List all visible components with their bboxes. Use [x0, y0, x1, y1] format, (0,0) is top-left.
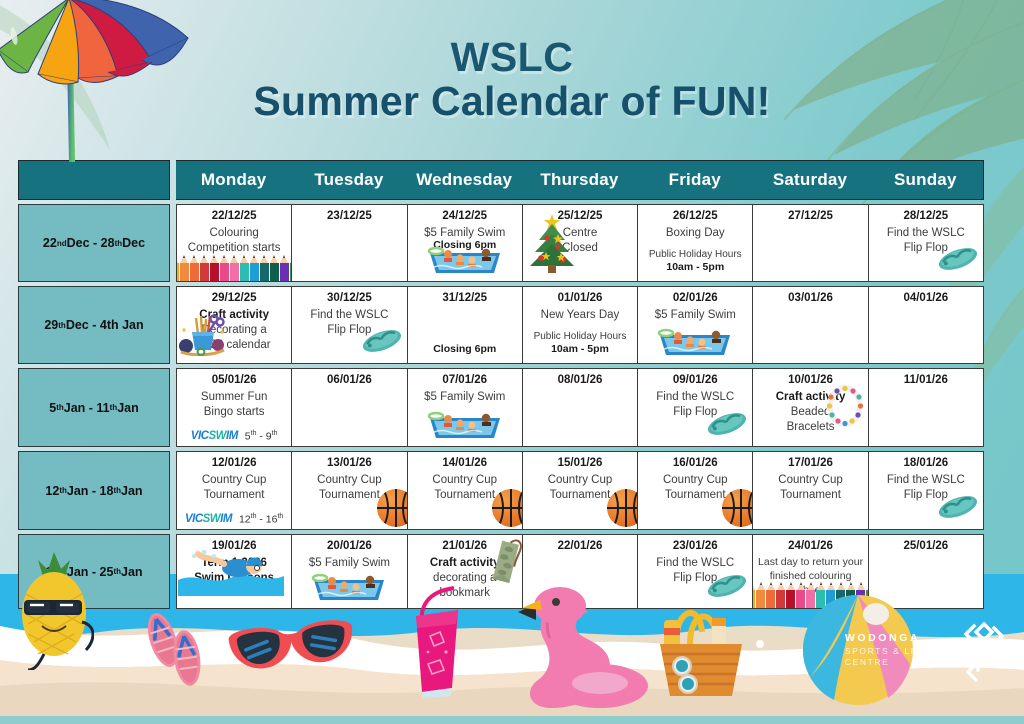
calendar-day-cell[interactable]: 04/01/26 — [869, 287, 983, 363]
day-text-line: Bracelets — [756, 420, 864, 435]
day-date: 25/12/25 — [526, 209, 634, 223]
calendar-day-cell[interactable]: 09/01/26Find the WSLCFlip Flop — [638, 369, 753, 446]
day-date: 21/01/26 — [411, 539, 519, 553]
logo-name: WODONGA — [845, 631, 952, 645]
vicswim-dates: 12th - 16th — [239, 513, 283, 526]
day-date: 24/12/25 — [411, 209, 519, 223]
calendar-day-cell[interactable]: 01/01/26New Years DayPublic Holiday Hour… — [523, 287, 638, 363]
vicswim-dates: 5th - 9th — [245, 430, 278, 443]
calendar-day-cell[interactable]: 21/01/26Craft activitydecorating abookma… — [408, 535, 523, 608]
day-body: Term 1 2026Swim Lessons return — [180, 556, 288, 601]
calendar-day-cell[interactable]: 25/01/26 — [869, 535, 983, 608]
calendar-day-cell[interactable]: 18/01/26Find the WSLCFlip Flop — [869, 452, 983, 529]
day-text-line: Tournament — [756, 488, 864, 503]
week-range-label: 29th Dec - 4th Jan — [18, 286, 170, 364]
day-date: 04/01/26 — [872, 291, 980, 305]
day-date: 01/01/26 — [526, 291, 634, 305]
day-date: 13/01/26 — [295, 456, 403, 470]
week-range-label: 5th Jan - 11th Jan — [18, 368, 170, 447]
calendar-day-cell[interactable]: 31/12/25Closing 6pm — [408, 287, 523, 363]
day-text-line: Boxing Day — [641, 226, 749, 241]
day-body: Craft activitydecorating abookmark — [411, 556, 519, 601]
day-text-line: $5 Family Swim — [295, 556, 403, 571]
day-text-line: bookmark — [411, 586, 519, 601]
day-body: Find the WSLCFlip Flop — [641, 556, 749, 586]
calendar-day-cell[interactable]: 23/01/26Find the WSLCFlip Flop — [638, 535, 753, 608]
day-text-line: Tournament — [180, 488, 288, 503]
day-text-line: sheet — [756, 584, 864, 598]
day-date: 09/01/26 — [641, 373, 749, 387]
day-body: Country CupTournament — [526, 473, 634, 503]
day-body: ColouringCompetition starts — [180, 226, 288, 256]
day-date: 29/12/25 — [180, 291, 288, 305]
day-body: $5 Family Swim — [411, 390, 519, 405]
calendar-day-cell[interactable]: 05/01/26Summer FunBingo startsVICSWIM5th… — [177, 369, 292, 446]
family-swim-pool-icon — [310, 568, 388, 607]
day-header-tuesday: Tuesday — [291, 161, 406, 199]
family-swim-pool-icon — [426, 406, 504, 445]
day-subnote-hours: 10am - 5pm — [641, 261, 749, 275]
calendar-day-cell[interactable]: 14/01/26Country CupTournament — [408, 452, 523, 529]
day-text-line: $5 Family Swim — [641, 308, 749, 323]
day-text-line: decorating a — [411, 571, 519, 586]
day-text-line: Find the WSLC — [295, 308, 403, 323]
vicswim-program-note: VICSWIM5th - 9th — [177, 430, 291, 443]
calendar-week-row: 22nd Dec - 28th Dec22/12/25ColouringComp… — [18, 204, 984, 282]
day-text-line: Tournament — [526, 488, 634, 503]
day-body: Country CupTournament — [295, 473, 403, 503]
footer-accent-strip — [0, 716, 1024, 724]
week-range-label: 12th Jan - 18th Jan — [18, 451, 170, 530]
logo-mark-icon — [962, 614, 1006, 686]
day-date: 15/01/26 — [526, 456, 634, 470]
day-date: 18/01/26 — [872, 456, 980, 470]
day-text-line: Beaded — [756, 405, 864, 420]
calendar-day-cell[interactable]: 23/12/25 — [292, 205, 407, 281]
vicswim-logo: VICSWIM — [191, 430, 238, 442]
day-body: Boxing DayPublic Holiday Hours10am - 5pm — [641, 226, 749, 275]
calendar-day-cell[interactable]: 13/01/26Country CupTournament — [292, 452, 407, 529]
day-date: 22/01/26 — [526, 539, 634, 553]
day-date: 30/12/25 — [295, 291, 403, 305]
calendar-day-cell[interactable]: 02/01/26$5 Family Swim — [638, 287, 753, 363]
calendar-week-row: 5th Jan - 11th Jan05/01/26Summer FunBing… — [18, 368, 984, 447]
calendar-day-cell[interactable]: 25/12/25CentreClosed — [523, 205, 638, 281]
day-date: 12/01/26 — [180, 456, 288, 470]
week-days-strip: 22/12/25ColouringCompetition starts23/12… — [176, 204, 984, 282]
coloured-pencils-icon — [177, 255, 291, 281]
day-text-line: Competition starts — [180, 241, 288, 256]
week-days-strip: 19/01/26Term 1 2026Swim Lessons return20… — [176, 534, 984, 609]
calendar-day-cell[interactable]: 16/01/26Country CupTournament — [638, 452, 753, 529]
calendar-day-cell[interactable]: 08/01/26 — [523, 369, 638, 446]
vicswim-program-note: VICSWIM12th - 16th — [177, 513, 291, 526]
day-text-line: Country Cup — [180, 473, 288, 488]
day-date: 14/01/26 — [411, 456, 519, 470]
day-bold-line: Craft activity — [180, 308, 288, 323]
day-text-line: Centre — [526, 226, 634, 241]
calendar-day-cell[interactable]: 29/12/25Craft activityDecorating a2026 c… — [177, 287, 292, 363]
day-text-line: Last day to return your — [756, 556, 864, 570]
calendar-day-cell[interactable]: 06/01/26 — [292, 369, 407, 446]
calendar-day-cell[interactable]: 07/01/26$5 Family Swim — [408, 369, 523, 446]
day-text-line: Summer Fun — [180, 390, 288, 405]
day-text-line: Flip Flop — [295, 323, 403, 338]
day-body: $5 Family Swim — [641, 308, 749, 323]
day-subnote-hours: 10am - 5pm — [526, 343, 634, 357]
calendar-day-cell[interactable]: 17/01/26Country CupTournament — [753, 452, 868, 529]
day-text-line: Country Cup — [526, 473, 634, 488]
day-text-line: Bingo starts — [180, 405, 288, 420]
calendar-day-cell[interactable]: 22/01/26 — [523, 535, 638, 608]
day-text-line: Country Cup — [756, 473, 864, 488]
day-text-line: Country Cup — [411, 473, 519, 488]
wslc-logo: WODONGA SPORTS & LEISURE CENTRE — [845, 614, 1006, 686]
week-days-strip: 12/01/26Country CupTournamentVICSWIM12th… — [176, 451, 984, 530]
day-body: Craft activityBeadedBracelets — [756, 390, 864, 435]
calendar-week-row: 19th Jan - 25th Jan19/01/26Term 1 2026Sw… — [18, 534, 984, 609]
calendar-day-cell[interactable]: 03/01/26 — [753, 287, 868, 363]
calendar-day-cell[interactable]: 26/12/25Boxing DayPublic Holiday Hours10… — [638, 205, 753, 281]
calendar-day-cell[interactable]: 27/12/25 — [753, 205, 868, 281]
calendar-day-cell[interactable]: 30/12/25Find the WSLCFlip Flop — [292, 287, 407, 363]
day-date: 28/12/25 — [872, 209, 980, 223]
calendar-day-cell[interactable]: 28/12/25Find the WSLCFlip Flop — [869, 205, 983, 281]
day-date: 31/12/25 — [411, 291, 519, 305]
day-date: 22/12/25 — [180, 209, 288, 223]
day-header-saturday: Saturday — [752, 161, 867, 199]
day-body: $5 Family Swim — [295, 556, 403, 571]
day-text-line: Find the WSLC — [641, 556, 749, 571]
logo-subtitle-2: CENTRE — [845, 657, 952, 668]
day-date: 08/01/26 — [526, 373, 634, 387]
day-text-line: 2026 calendar — [180, 338, 288, 353]
day-text-line: Country Cup — [295, 473, 403, 488]
day-date: 19/01/26 — [180, 539, 288, 553]
day-date: 03/01/26 — [756, 291, 864, 305]
week-range-label: 22nd Dec - 28th Dec — [18, 204, 170, 282]
day-body: Craft activityDecorating a2026 calendar — [180, 308, 288, 353]
day-date: 02/01/26 — [641, 291, 749, 305]
day-text-line: New Years Day — [526, 308, 634, 323]
day-text-line: Decorating a — [180, 323, 288, 338]
day-body: Summer FunBingo starts — [180, 390, 288, 420]
calendar-day-cell[interactable]: 15/01/26Country CupTournament — [523, 452, 638, 529]
day-bold-line: Swim Lessons return — [180, 571, 288, 601]
day-text-line: Find the WSLC — [641, 390, 749, 405]
day-text-line: $5 Family Swim — [411, 390, 519, 405]
day-closing-note: Closing 6pm — [408, 239, 522, 251]
spacer — [526, 323, 634, 330]
day-text-line: Colouring — [180, 226, 288, 241]
vicswim-logo: VICSWIM — [185, 513, 232, 525]
day-bold-line: Craft activity — [411, 556, 519, 571]
day-text-line: Find the WSLC — [872, 473, 980, 488]
day-header-sunday: Sunday — [868, 161, 983, 199]
logo-subtitle-1: SPORTS & LEISURE — [845, 646, 952, 657]
calendar-day-cell[interactable]: 24/12/25$5 Family SwimClosing 6pm — [408, 205, 523, 281]
day-header-wednesday: Wednesday — [407, 161, 522, 199]
day-text-line: Flip Flop — [872, 488, 980, 503]
day-date: 20/01/26 — [295, 539, 403, 553]
day-body: Find the WSLCFlip Flop — [872, 473, 980, 503]
day-text-line: Country Cup — [641, 473, 749, 488]
day-body: Country CupTournament — [641, 473, 749, 503]
spacer — [641, 241, 749, 248]
day-body: Country CupTournament — [180, 473, 288, 503]
beach-umbrella-icon — [0, 0, 232, 184]
day-date: 27/12/25 — [756, 209, 864, 223]
day-text-line: Flip Flop — [872, 241, 980, 256]
day-text-line: finished colouring — [756, 570, 864, 584]
day-body: Country CupTournament — [756, 473, 864, 503]
day-date: 25/01/26 — [872, 539, 980, 553]
day-date: 26/12/25 — [641, 209, 749, 223]
day-date: 07/01/26 — [411, 373, 519, 387]
day-text-line: Flip Flop — [641, 405, 749, 420]
day-date: 16/01/26 — [641, 456, 749, 470]
day-date: 06/01/26 — [295, 373, 403, 387]
summer-calendar-table: MondayTuesdayWednesdayThursdayFridaySatu… — [18, 160, 984, 609]
day-date: 17/01/26 — [756, 456, 864, 470]
day-body: Find the WSLCFlip Flop — [872, 226, 980, 256]
day-bold-line: Term 1 2026 — [180, 556, 288, 571]
day-header-strip: MondayTuesdayWednesdayThursdayFridaySatu… — [176, 160, 984, 200]
calendar-week-row: 29th Dec - 4th Jan29/12/25Craft activity… — [18, 286, 984, 364]
day-date: 24/01/26 — [756, 539, 864, 553]
day-body: CentreClosed — [526, 226, 634, 256]
day-date: 23/12/25 — [295, 209, 403, 223]
calendar-day-cell[interactable]: 11/01/26 — [869, 369, 983, 446]
day-date: 10/01/26 — [756, 373, 864, 387]
day-text-line: Flip Flop — [641, 571, 749, 586]
day-date: 05/01/26 — [180, 373, 288, 387]
day-header-friday: Friday — [637, 161, 752, 199]
day-body: New Years DayPublic Holiday Hours10am - … — [526, 308, 634, 357]
family-swim-pool-icon — [656, 323, 734, 362]
calendar-day-cell[interactable]: 19/01/26Term 1 2026Swim Lessons return — [177, 535, 292, 608]
day-body: Find the WSLCFlip Flop — [295, 308, 403, 338]
calendar-day-cell[interactable]: 24/01/26Last day to return yourfinished … — [753, 535, 868, 608]
calendar-week-row: 12th Jan - 18th Jan12/01/26Country CupTo… — [18, 451, 984, 530]
day-bold-line: Craft activity — [756, 390, 864, 405]
day-subnote: Public Holiday Hours — [641, 248, 749, 261]
calendar-day-cell[interactable]: 12/01/26Country CupTournamentVICSWIM12th… — [177, 452, 292, 529]
day-date: 11/01/26 — [872, 373, 980, 387]
calendar-day-cell[interactable]: 22/12/25ColouringCompetition starts — [177, 205, 292, 281]
day-text-line: Tournament — [641, 488, 749, 503]
day-date: 23/01/26 — [641, 539, 749, 553]
week-range-label: 19th Jan - 25th Jan — [18, 534, 170, 609]
calendar-day-cell[interactable]: 20/01/26$5 Family Swim — [292, 535, 407, 608]
day-text-line: Tournament — [295, 488, 403, 503]
day-text-line: Tournament — [411, 488, 519, 503]
day-closing-note: Closing 6pm — [408, 343, 522, 355]
day-text-line: Closed — [526, 241, 634, 256]
calendar-day-cell[interactable]: 10/01/26Craft activityBeadedBracelets — [753, 369, 868, 446]
week-days-strip: 05/01/26Summer FunBingo startsVICSWIM5th… — [176, 368, 984, 447]
day-header-thursday: Thursday — [522, 161, 637, 199]
day-subnote: Public Holiday Hours — [526, 330, 634, 343]
day-body: Country CupTournament — [411, 473, 519, 503]
day-text-line: Find the WSLC — [872, 226, 980, 241]
week-days-strip: 29/12/25Craft activityDecorating a2026 c… — [176, 286, 984, 364]
day-body: Find the WSLCFlip Flop — [641, 390, 749, 420]
day-body: Last day to return yourfinished colourin… — [756, 556, 864, 597]
